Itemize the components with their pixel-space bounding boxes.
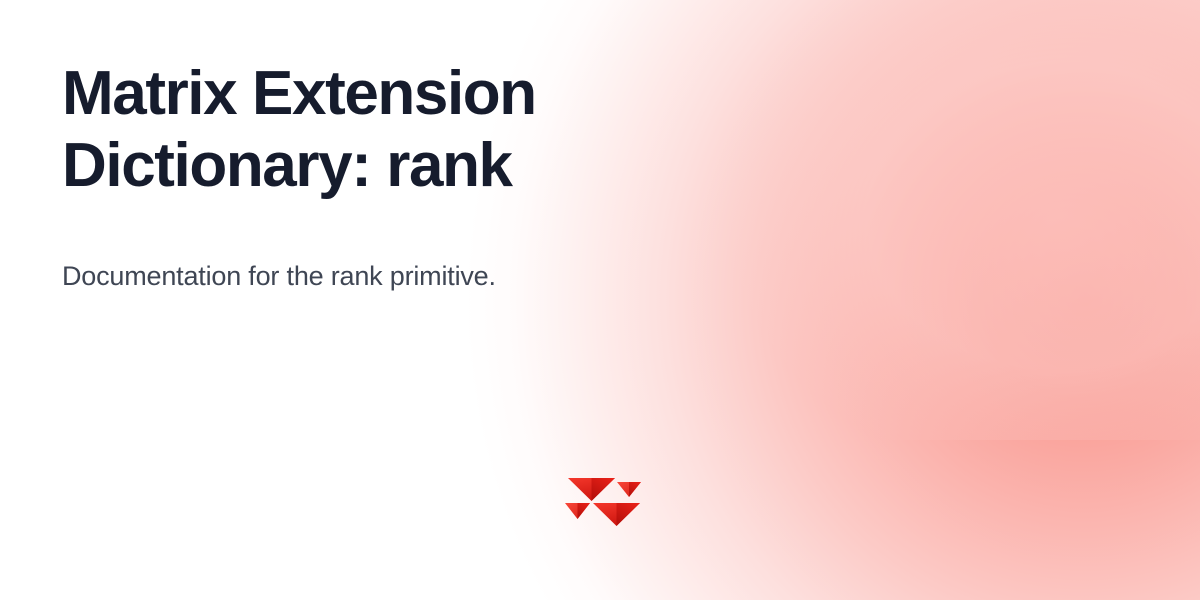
brand-logo [565, 477, 643, 527]
content-block: Matrix Extension Dictionary: rank Docume… [62, 58, 762, 294]
og-card: Matrix Extension Dictionary: rank Docume… [0, 0, 1200, 600]
page-subtitle: Documentation for the rank primitive. [62, 202, 762, 294]
brand-logo-icon [565, 477, 643, 527]
page-title: Matrix Extension Dictionary: rank [62, 58, 762, 202]
